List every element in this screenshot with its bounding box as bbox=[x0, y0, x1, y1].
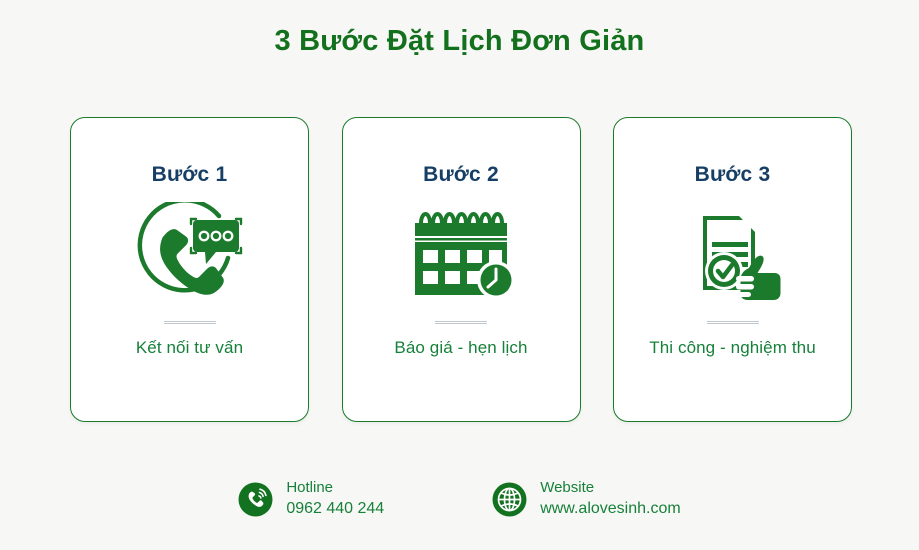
document-check-hand-icon bbox=[671, 201, 795, 305]
step-caption: Kết nối tư vấn bbox=[136, 338, 243, 358]
step-card-2[interactable]: Bước 2 bbox=[342, 117, 581, 422]
contact-value: www.alovesinh.com bbox=[540, 498, 681, 520]
globe-circle-icon bbox=[492, 482, 527, 517]
step-divider bbox=[707, 321, 759, 324]
footer-contacts: Hotline 0962 440 244 Website www.alovesi… bbox=[0, 478, 919, 520]
contact-value: 0962 440 244 bbox=[286, 498, 384, 520]
step-divider bbox=[164, 321, 216, 324]
calendar-clock-icon bbox=[399, 201, 523, 305]
step-label: Bước 1 bbox=[152, 163, 228, 187]
contact-label: Website bbox=[540, 478, 681, 498]
page-title: 3 Bước Đặt Lịch Đơn Giản bbox=[0, 24, 919, 59]
step-label: Bước 3 bbox=[695, 163, 771, 187]
step-label: Bước 2 bbox=[423, 163, 499, 187]
step-caption: Thi công - nghiệm thu bbox=[649, 338, 816, 358]
step-divider bbox=[435, 321, 487, 324]
contact-label: Hotline bbox=[286, 478, 384, 498]
step-card-1[interactable]: Bước 1 bbox=[70, 117, 309, 422]
phone-circle-icon bbox=[238, 482, 273, 517]
steps-container: Bước 1 bbox=[70, 117, 852, 422]
step-card-3[interactable]: Bước 3 bbox=[613, 117, 852, 422]
contact-hotline[interactable]: Hotline 0962 440 244 bbox=[238, 478, 384, 520]
step-caption: Báo giá - hẹn lịch bbox=[394, 338, 527, 358]
contact-text: Hotline 0962 440 244 bbox=[286, 478, 384, 520]
phone-chat-icon bbox=[128, 201, 252, 305]
contact-website[interactable]: Website www.alovesinh.com bbox=[492, 478, 681, 520]
contact-text: Website www.alovesinh.com bbox=[540, 478, 681, 520]
